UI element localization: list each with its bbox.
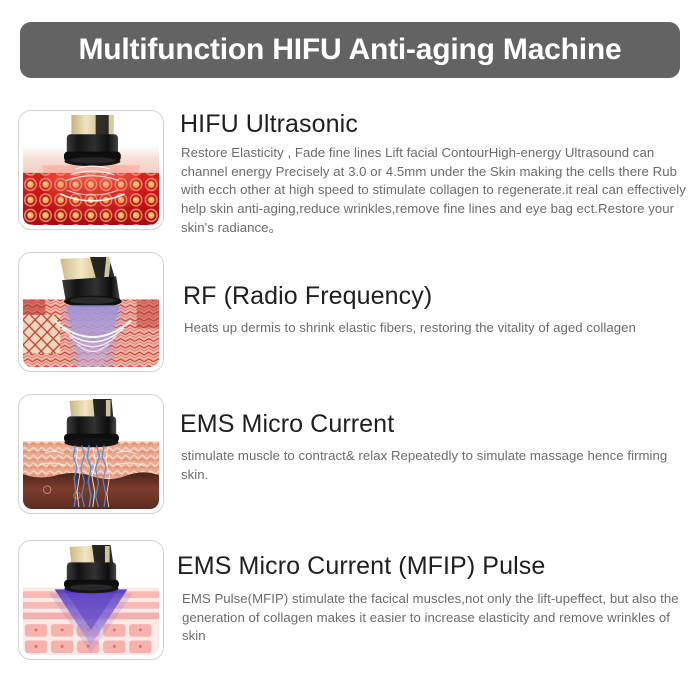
rf-radio-frequency-illustration <box>23 257 159 367</box>
feature-description: EMS Pulse(MFIP) stimulate the facical mu… <box>182 590 682 646</box>
feature-title: EMS Micro Current (MFIP) Pulse <box>177 552 698 580</box>
ems-micro-current-illustration <box>23 399 159 509</box>
feature-text-block: HIFU Ultrasonic Restore Elasticity , Fad… <box>164 110 700 238</box>
ems-mfip-pulse-illustration <box>23 545 159 655</box>
feature-title: EMS Micro Current <box>180 410 698 438</box>
feature-thumbnail-frame <box>18 540 164 660</box>
feature-row: RF (Radio Frequency) Heats up dermis to … <box>0 252 700 372</box>
page-title: Multifunction HIFU Anti-aging Machine <box>78 33 621 67</box>
feature-thumbnail-frame <box>18 110 164 230</box>
page-header-banner: Multifunction HIFU Anti-aging Machine <box>20 22 680 78</box>
feature-text-block: EMS Micro Current (MFIP) Pulse EMS Pulse… <box>164 540 700 646</box>
feature-title: RF (Radio Frequency) <box>183 282 698 310</box>
hifu-ultrasonic-illustration <box>23 115 159 225</box>
feature-description: stimulate muscle to contract& relax Repe… <box>181 447 691 484</box>
feature-row: EMS Micro Current stimulate muscle to co… <box>0 394 700 514</box>
feature-thumbnail-frame <box>18 394 164 514</box>
feature-thumbnail-frame <box>18 252 164 372</box>
feature-title: HIFU Ultrasonic <box>180 110 698 138</box>
feature-row: HIFU Ultrasonic Restore Elasticity , Fad… <box>0 110 700 238</box>
feature-description: Restore Elasticity , Fade fine lines Lif… <box>181 144 698 238</box>
feature-description: Heats up dermis to shrink elastic fibers… <box>184 319 698 338</box>
feature-text-block: RF (Radio Frequency) Heats up dermis to … <box>164 252 700 338</box>
feature-row: EMS Micro Current (MFIP) Pulse EMS Pulse… <box>0 540 700 660</box>
feature-text-block: EMS Micro Current stimulate muscle to co… <box>164 394 700 484</box>
